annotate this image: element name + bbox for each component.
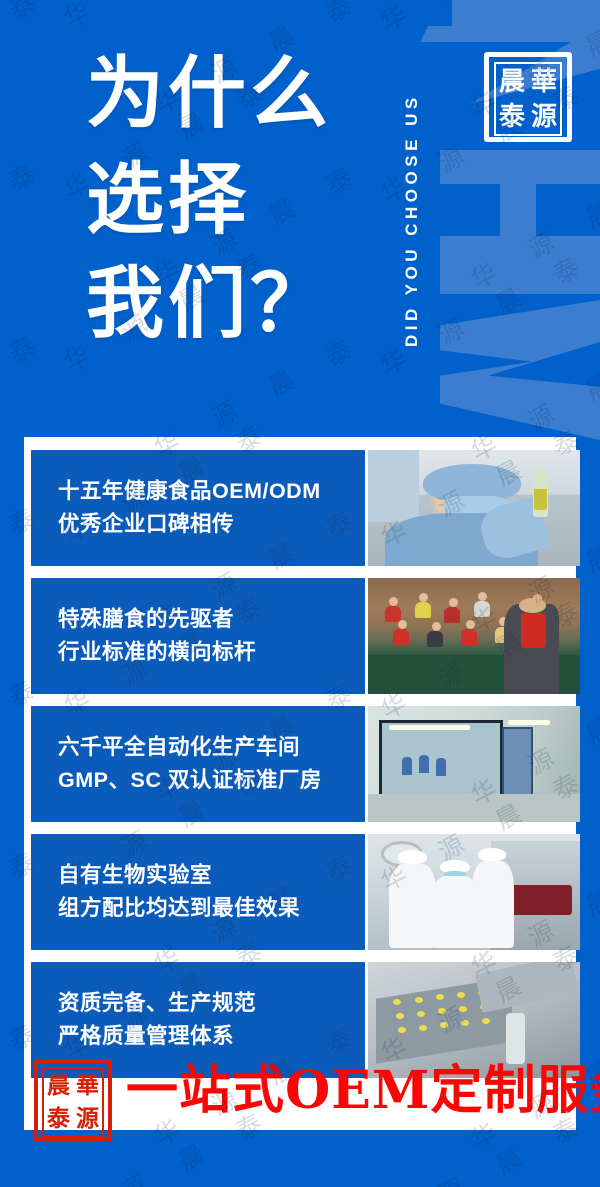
company-seal-red: 晨 華 泰 源 xyxy=(34,1059,112,1141)
footer-slogan: 一站式OEM定制服务 xyxy=(126,1057,600,1125)
seal-glyph-4: 源 xyxy=(528,99,560,134)
feature-row: 特殊膳食的先驱者 行业标准的横向标杆 xyxy=(31,578,580,694)
photo-lab-staff-icon xyxy=(368,834,580,950)
feature-photo xyxy=(368,706,580,822)
main-title: 为什么 选择 我们？ xyxy=(86,46,332,352)
photo-conference-icon xyxy=(368,578,580,694)
seal-glyph-2: 華 xyxy=(73,1069,102,1102)
title-line-1: 为什么 xyxy=(86,46,332,142)
feature-line-1: 十五年健康食品OEM/ODM xyxy=(58,475,365,508)
feature-photo xyxy=(368,578,580,694)
feature-line-1: 特殊膳食的先驱者 xyxy=(58,603,365,636)
feature-line-1: 自有生物实验室 xyxy=(58,859,365,892)
feature-photo xyxy=(368,834,580,950)
photo-cleanroom-icon xyxy=(368,706,580,822)
feature-row: 十五年健康食品OEM/ODM 优秀企业口碑相传 xyxy=(31,450,580,566)
feature-photo xyxy=(368,450,580,566)
feature-line-2: GMP、SC 双认证标准厂房 xyxy=(58,764,365,797)
feature-line-1: 资质完备、生产规范 xyxy=(58,987,365,1020)
title-line-3: 我们？ xyxy=(86,256,332,352)
feature-line-2: 组方配比均达到最佳效果 xyxy=(58,892,365,925)
seal-glyph-1: 晨 xyxy=(44,1069,73,1102)
feature-card[interactable]: 六千平全自动化生产车间 GMP、SC 双认证标准厂房 xyxy=(31,706,365,822)
feature-card[interactable]: 特殊膳食的先驱者 行业标准的横向标杆 xyxy=(31,578,365,694)
feature-line-2: 行业标准的横向标杆 xyxy=(58,636,365,669)
seal-glyph-1: 晨 xyxy=(496,64,528,99)
vertical-english-tagline: DID YOU CHOOSE US xyxy=(395,20,429,420)
seal-glyph-3: 泰 xyxy=(44,1102,73,1135)
feature-card[interactable]: 自有生物实验室 组方配比均达到最佳效果 xyxy=(31,834,365,950)
feature-line-2: 严格质量管理体系 xyxy=(58,1020,365,1053)
feature-line-2: 优秀企业口碑相传 xyxy=(58,508,365,541)
seal-glyph-3: 泰 xyxy=(496,99,528,134)
title-line-2: 选择 xyxy=(86,152,332,248)
feature-row: 六千平全自动化生产车间 GMP、SC 双认证标准厂房 xyxy=(31,706,580,822)
feature-card[interactable]: 十五年健康食品OEM/ODM 优秀企业口碑相传 xyxy=(31,450,365,566)
seal-inner-frame: 晨 華 泰 源 xyxy=(42,1067,104,1137)
poster-stage: 为什么 选择 我们？ DID YOU CHOOSE US 晨 華 泰 源 十五年… xyxy=(0,0,600,1187)
feature-row: 自有生物实验室 组方配比均达到最佳效果 xyxy=(31,834,580,950)
company-seal-white: 晨 華 泰 源 xyxy=(484,52,572,142)
photo-lab-technician-icon xyxy=(368,450,580,566)
seal-glyph-2: 華 xyxy=(528,64,560,99)
seal-inner-frame: 晨 華 泰 源 xyxy=(494,62,562,136)
seal-glyph-4: 源 xyxy=(73,1102,102,1135)
feature-list: 十五年健康食品OEM/ODM 优秀企业口碑相传 特殊膳食的先驱者 行业标准的横向… xyxy=(31,450,580,1078)
feature-line-1: 六千平全自动化生产车间 xyxy=(58,731,365,764)
